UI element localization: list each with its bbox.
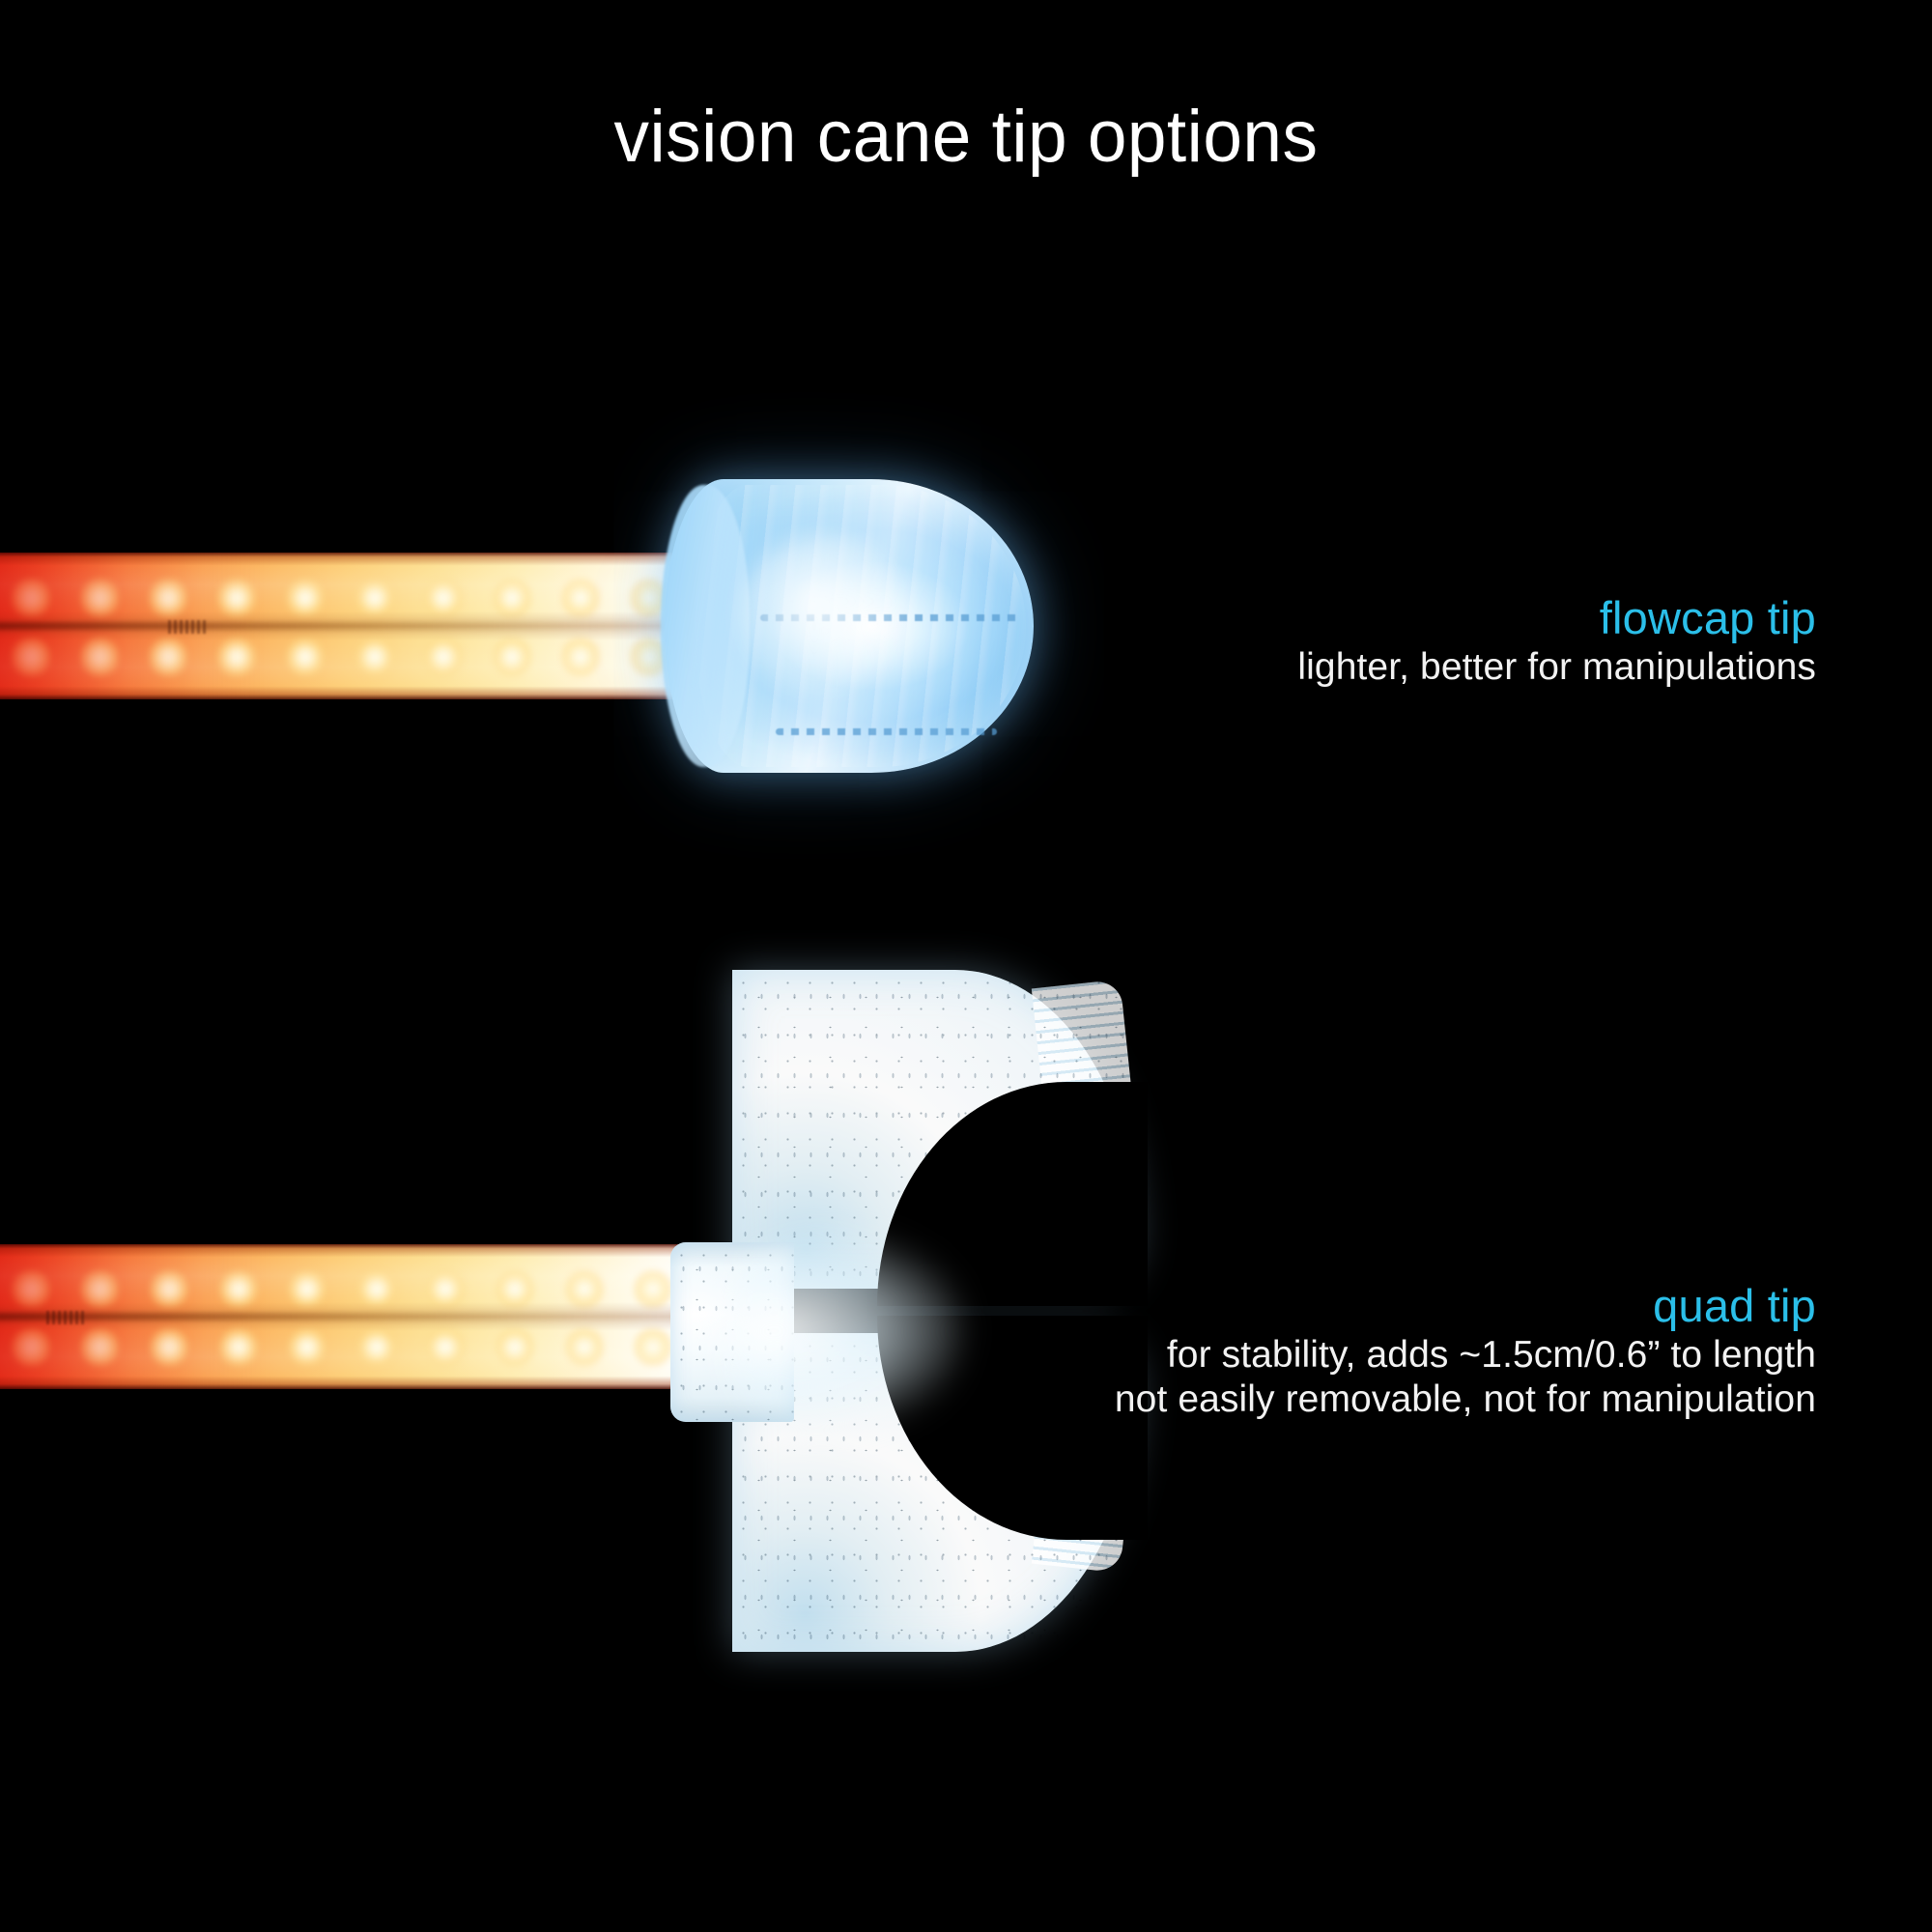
quad-tip-socket [670,1242,794,1422]
poster-canvas: vision cane tip options [0,0,1932,1932]
quad-tip-description-line-2: not easily removable, not for manipulati… [1115,1378,1816,1423]
quad-tip-illustration [670,970,1134,1652]
flowcap-tip-description-line-1: lighter, better for manipulations [1297,645,1816,691]
flowcap-tip-illustration [665,479,1034,773]
cane-red-cast [0,1244,688,1389]
quad-tip-name: quad tip [1115,1280,1816,1333]
flowcap-dotted-seam [776,728,997,735]
cane-red-cast [0,553,684,699]
flowcap-tip-name: flowcap tip [1297,592,1816,645]
cane-shaft-flowcap [0,553,684,699]
quad-tip-description-line-1: for stability, adds ~1.5cm/0.6” to lengt… [1115,1333,1816,1378]
quad-tip-glitter [670,1242,794,1422]
caption-quad: quad tip for stability, adds ~1.5cm/0.6”… [1115,1280,1816,1423]
caption-flowcap: flowcap tip lighter, better for manipula… [1297,592,1816,690]
flowcap-skirt [661,485,750,767]
cane-shaft-quad [0,1244,688,1389]
flowcap-highlight [738,532,908,696]
page-title: vision cane tip options [39,100,1893,174]
